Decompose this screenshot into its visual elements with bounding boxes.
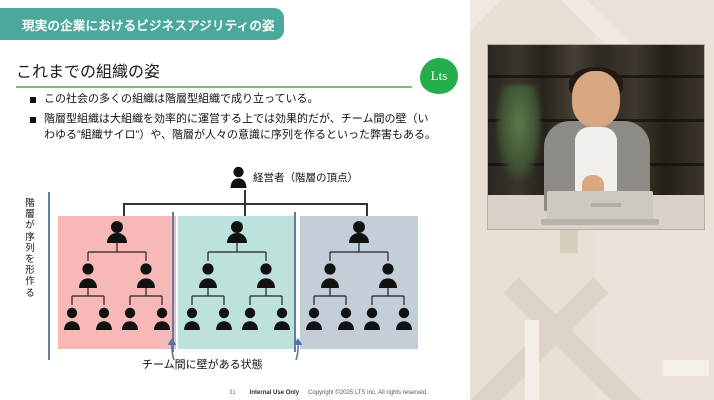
laptop-base: [541, 219, 659, 225]
connector-line: [123, 203, 125, 216]
banner-text: 現実の企業におけるビジネスアジリティの姿: [22, 15, 275, 34]
hierarchy-axis-line: [48, 192, 50, 360]
presenter-head: [572, 71, 620, 127]
org-hierarchy-diagram: 階層が序列を形作る 経営者（階層の頂点）: [0, 160, 470, 385]
bullet-marker-icon: [30, 117, 36, 123]
person-icon: [230, 166, 247, 188]
connector-line: [244, 203, 246, 216]
team-hierarchy-tree: [178, 216, 296, 349]
executive-label: 経営者（階層の頂点）: [253, 170, 358, 185]
title-underline: [16, 86, 412, 88]
diagram-caption: チーム間に壁がある状態: [142, 356, 263, 372]
hierarchy-axis-label: 階層が序列を形作る: [22, 198, 38, 299]
connector-line: [244, 190, 246, 204]
team-box: [58, 216, 176, 349]
bullet-text: 階層型組織は大組織を効率的に運営する上では効果的だが、チーム間の壁（いわゆる”組…: [44, 112, 438, 144]
copyright-text: Copyright ©2025 LTS Inc. All rights rese…: [308, 390, 428, 396]
laptop-screen: [547, 191, 653, 219]
presenter-video[interactable]: [487, 44, 705, 230]
laptop-brand-mark: [591, 203, 621, 207]
team-hierarchy-tree: [58, 216, 176, 349]
slide-section-banner: 現実の企業におけるビジネスアジリティの姿: [0, 8, 284, 40]
team-hierarchy-tree: [300, 216, 418, 349]
team-wall-divider: [294, 212, 296, 352]
bullet-text: この社会の多くの組織は階層型組織で成り立っている。: [44, 92, 318, 108]
slide-footer: 31 Internal Use Only Copyright ©2025 LTS…: [0, 386, 470, 400]
laptop: [541, 191, 659, 225]
lts-logo: Lts: [419, 57, 459, 95]
team-box: [300, 216, 418, 349]
presenter-figure: [542, 71, 652, 211]
backdrop-horizontal-stripe: [663, 360, 709, 376]
connector-line: [366, 203, 368, 216]
executive-node: 経営者（階層の頂点）: [230, 166, 358, 188]
bullet-item: 階層型組織は大組織を効率的に運営する上では効果的だが、チーム間の壁（いわゆる”組…: [30, 112, 438, 144]
classification-label: Internal Use Only: [250, 390, 299, 396]
bullet-marker-icon: [30, 97, 36, 103]
bullet-item: この社会の多くの組織は階層型組織で成り立っている。: [30, 92, 440, 108]
lts-logo-text: Lts: [419, 57, 459, 95]
page-number: 31: [229, 390, 236, 396]
team-wall-divider: [172, 212, 174, 352]
plant-decoration: [496, 85, 542, 181]
page-title: これまでの組織の姿: [16, 58, 160, 82]
slide-canvas: 現実の企業におけるビジネスアジリティの姿 これまでの組織の姿 Lts この社会の…: [0, 0, 470, 400]
team-box: [178, 216, 296, 349]
backdrop-vertical-stripe: [525, 320, 539, 400]
